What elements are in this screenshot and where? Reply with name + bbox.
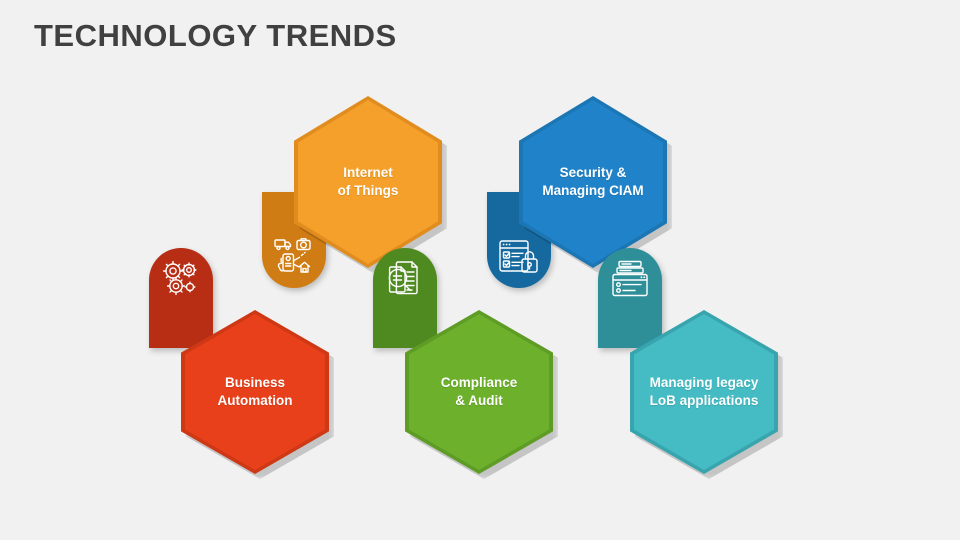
- hexagon-label: Managing legacy LoB applications: [636, 374, 772, 410]
- hexagon-label: Business Automation: [187, 374, 323, 410]
- hexagon-label: Internet of Things: [300, 164, 436, 200]
- gears-icon: [149, 254, 213, 304]
- slide-canvas: TECHNOLOGY TRENDS: [0, 0, 960, 540]
- hexagon-label: Security & Managing CIAM: [525, 164, 661, 200]
- pin-compliance-audit: [373, 248, 437, 348]
- server-stack-icon: [598, 254, 662, 304]
- document-magnifier-icon: [373, 254, 437, 304]
- pin-business-automation: [149, 248, 213, 348]
- iot-devices-icon: [262, 232, 326, 282]
- pin-managing-legacy-lob-applications: [598, 248, 662, 348]
- hexagon-label: Compliance & Audit: [411, 374, 547, 410]
- browser-lock-icon: [487, 232, 551, 282]
- page-title: TECHNOLOGY TRENDS: [34, 18, 397, 54]
